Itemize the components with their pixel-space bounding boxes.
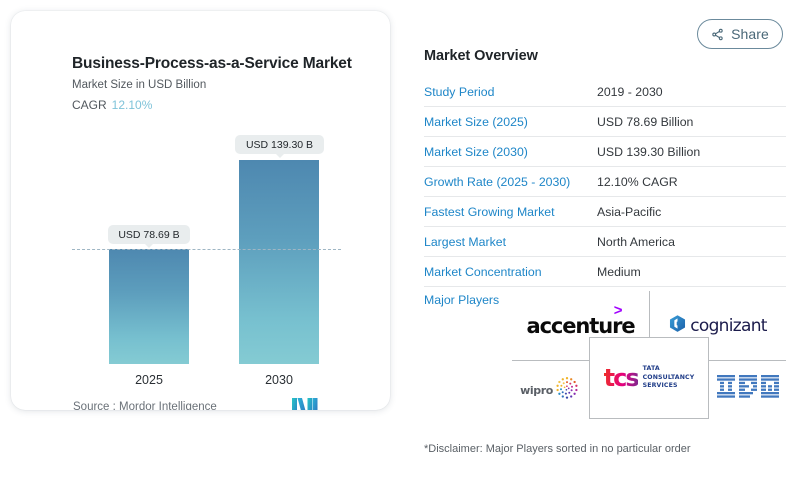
row-label: Market Size (2025) [424, 115, 597, 129]
value-label-2030: USD 139.30 B [235, 135, 324, 154]
chart-card: Business-Process-as-a-Service Market Mar… [11, 11, 390, 410]
overview-row-study-period: Study Period 2019 - 2030 [424, 77, 786, 107]
row-label: Market Size (2030) [424, 145, 597, 159]
cognizant-mark-icon [668, 314, 687, 338]
bar-chart-plot: USD 78.69 B USD 139.30 B 2025 2030 [11, 11, 390, 410]
xtick-2030: 2030 [239, 373, 319, 387]
overview-row-market-size-2025: Market Size (2025) USD 78.69 Billion [424, 107, 786, 137]
accenture-arrow-icon: > [614, 303, 623, 318]
wipro-dots-icon [554, 375, 580, 406]
logo-tcs[interactable]: tcs TATA CONSULTANCY SERVICES [590, 338, 708, 418]
row-label: Largest Market [424, 235, 597, 249]
row-value: 2019 - 2030 [597, 85, 663, 99]
tcs-wordmark: tcs [604, 364, 638, 392]
cognizant-wordmark: cognizant [690, 316, 767, 336]
market-overview-panel: Market Overview Study Period 2019 - 2030… [424, 48, 786, 287]
share-button[interactable]: Share [697, 19, 783, 49]
tcs-line1: TATA [643, 365, 660, 372]
xtick-2025: 2025 [109, 373, 189, 387]
logo-ibm[interactable] [710, 363, 786, 417]
ibm-wordmark [717, 375, 779, 406]
tcs-line2: CONSULTANCY [643, 374, 695, 381]
overview-row-market-concentration: Market Concentration Medium [424, 257, 786, 287]
row-value: Medium [597, 265, 641, 279]
major-players-logo-grid: accenture > cognizan [512, 291, 786, 419]
overview-row-fastest-growing-market: Fastest Growing Market Asia-Pacific [424, 197, 786, 227]
row-value: North America [597, 235, 675, 249]
tcs-subtext: TATA CONSULTANCY SERVICES [643, 365, 695, 392]
overview-row-growth-rate: Growth Rate (2025 - 2030) 12.10% CAGR [424, 167, 786, 197]
reference-line [72, 249, 341, 250]
row-value: USD 139.30 Billion [597, 145, 700, 159]
grid-divider-horizontal-right [708, 360, 786, 361]
infographic-page: Share Business-Process-as-a-Service Mark… [0, 0, 800, 482]
major-players-label: Major Players [424, 293, 499, 307]
overview-title: Market Overview [424, 48, 786, 64]
row-label: Study Period [424, 85, 597, 99]
share-label: Share [731, 26, 769, 42]
overview-row-largest-market: Largest Market North America [424, 227, 786, 257]
row-label: Fastest Growing Market [424, 205, 597, 219]
row-value: USD 78.69 Billion [597, 115, 693, 129]
logo-wipro[interactable]: wipro [512, 363, 588, 417]
wipro-wordmark: wipro [520, 384, 553, 397]
tcs-line3: SERVICES [643, 382, 678, 389]
overview-row-market-size-2030: Market Size (2030) USD 139.30 Billion [424, 137, 786, 167]
value-label-2025: USD 78.69 B [108, 225, 190, 244]
row-label: Growth Rate (2025 - 2030) [424, 175, 597, 189]
bar-2025[interactable] [109, 249, 189, 364]
grid-divider-horizontal-left [512, 360, 590, 361]
bar-2030[interactable] [239, 160, 319, 364]
disclaimer-text: *Disclaimer: Major Players sorted in no … [424, 443, 691, 455]
row-value: Asia-Pacific [597, 205, 661, 219]
source-text: Source : Mordor Intelligence [73, 401, 217, 410]
share-icon [711, 28, 724, 41]
row-label: Market Concentration [424, 265, 597, 279]
row-value: 12.10% CAGR [597, 175, 678, 189]
mordor-intelligence-logo [292, 398, 318, 410]
